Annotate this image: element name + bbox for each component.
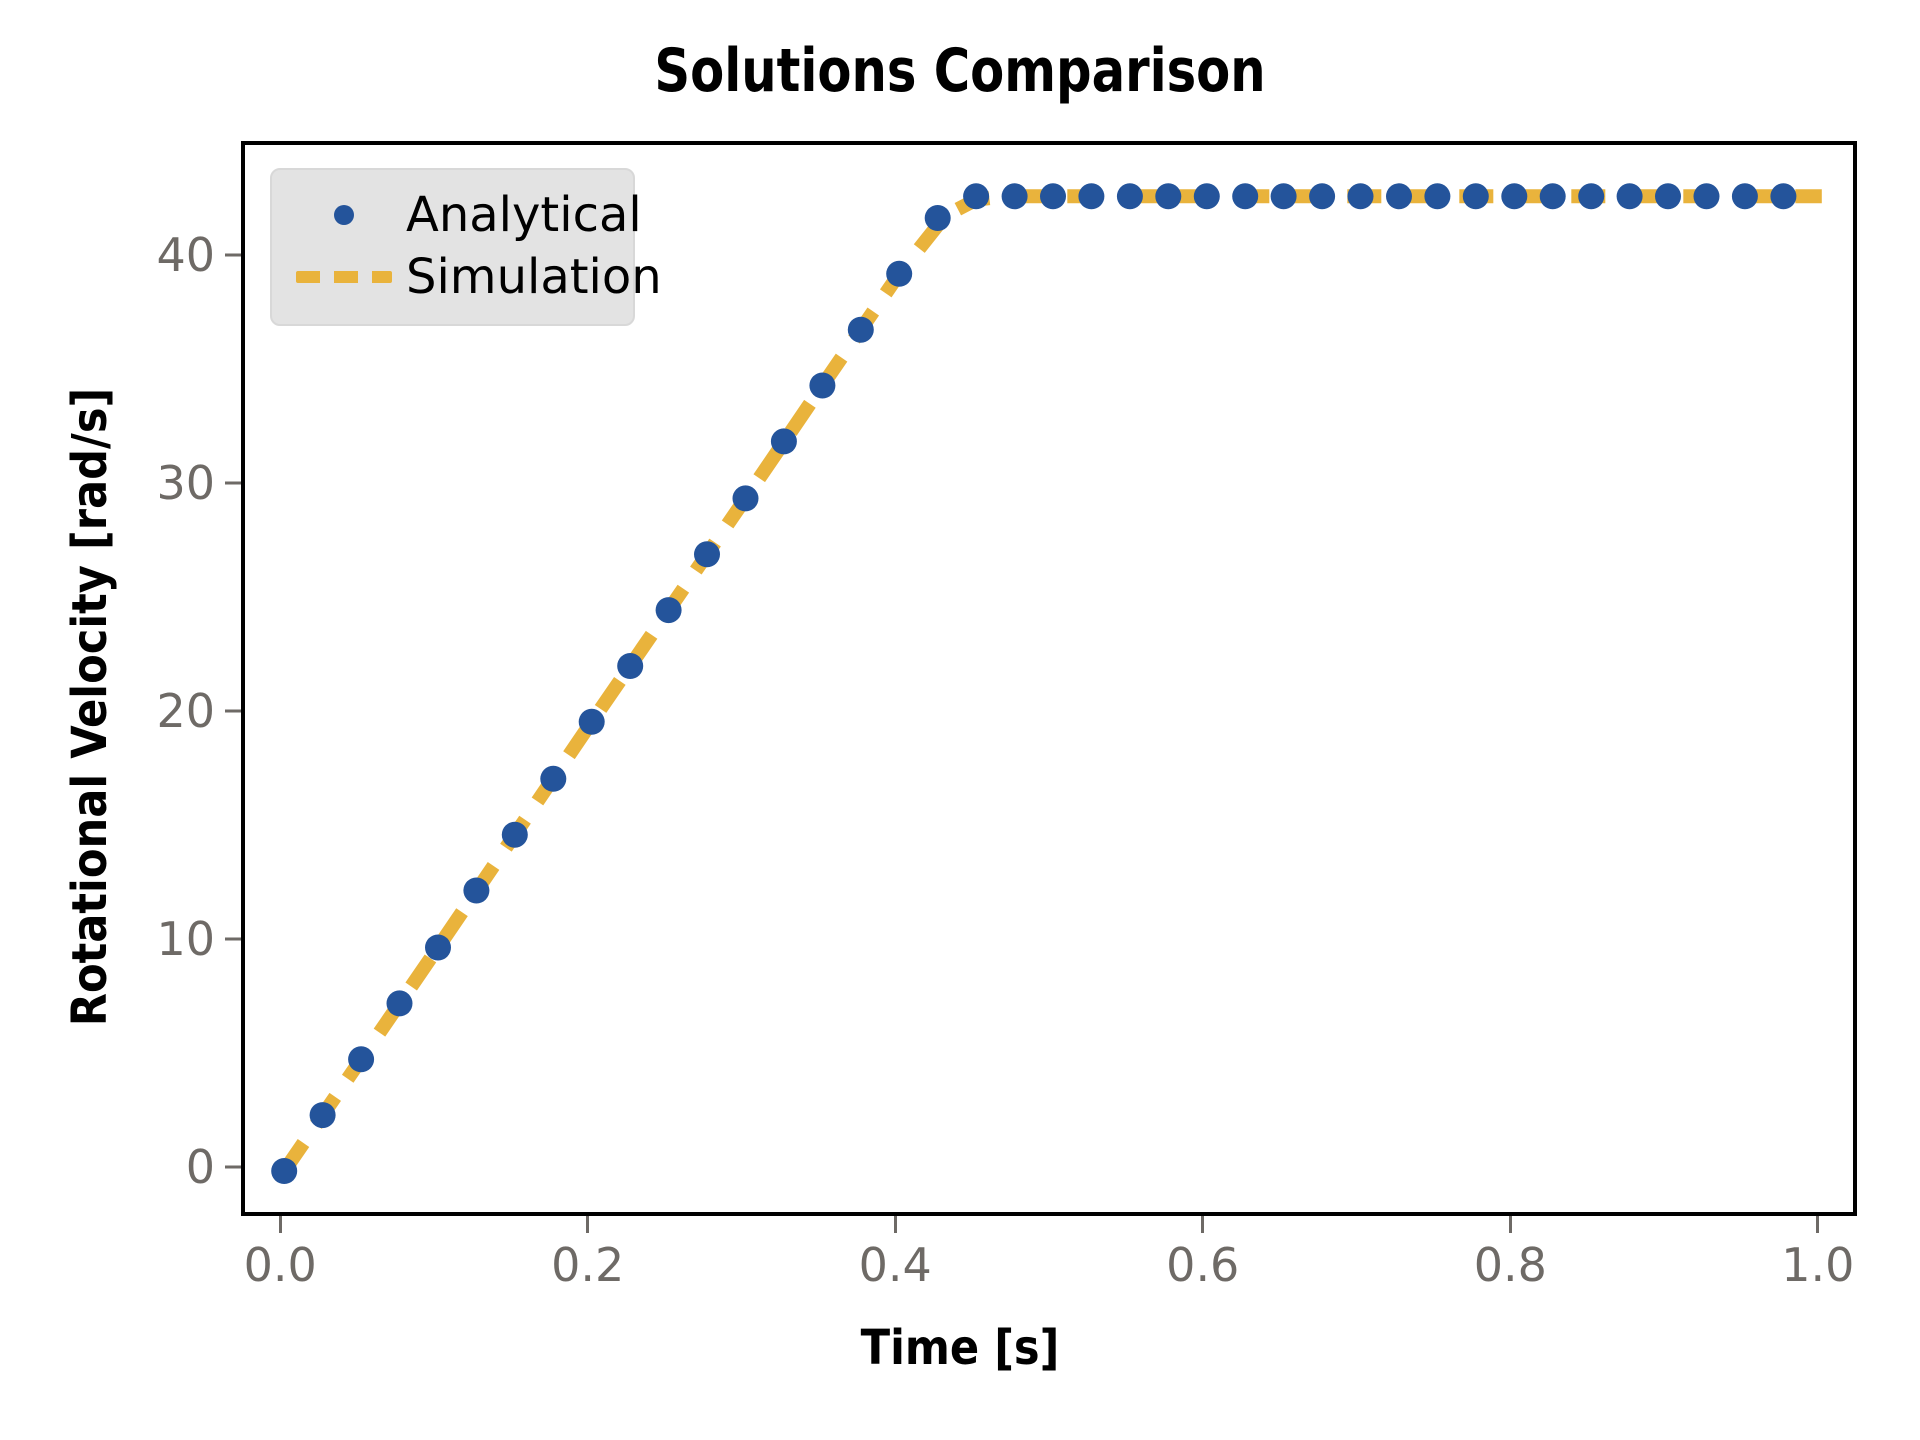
legend[interactable]: Analytical Simulation [270, 168, 635, 326]
data-point [1501, 183, 1527, 209]
legend-item-analytical[interactable]: Analytical [288, 184, 617, 246]
y-tick-label: 30 [95, 456, 215, 510]
page-title: Solutions Comparison [77, 36, 1843, 106]
data-point [1770, 183, 1796, 209]
data-point [925, 205, 951, 231]
data-point [502, 822, 528, 848]
x-tick-label: 0.6 [1103, 1238, 1303, 1292]
x-tick-mark [1509, 1216, 1512, 1233]
data-point [848, 317, 874, 343]
data-point [1424, 183, 1450, 209]
data-point [463, 878, 489, 904]
data-point [1386, 183, 1412, 209]
data-point [540, 766, 566, 792]
data-point [733, 485, 759, 511]
data-point [271, 1158, 297, 1184]
data-point [617, 653, 643, 679]
data-point [886, 261, 912, 287]
data-point [348, 1046, 374, 1072]
data-point [656, 597, 682, 623]
x-tick-mark [1201, 1216, 1204, 1233]
legend-item-simulation[interactable]: Simulation [288, 246, 617, 308]
data-point [1732, 183, 1758, 209]
data-point [425, 935, 451, 961]
y-tick-label: 0 [95, 1140, 215, 1194]
data-point [1117, 183, 1143, 209]
x-axis-label: Time [s] [0, 1320, 1920, 1376]
data-point [1194, 183, 1220, 209]
x-tick-mark [1816, 1216, 1819, 1233]
simulation-series-line [284, 196, 1822, 1171]
data-point [1348, 183, 1374, 209]
legend-label-analytical: Analytical [400, 187, 642, 243]
data-point [771, 428, 797, 454]
x-tick-label: 0.2 [488, 1238, 688, 1292]
y-tick-mark [225, 937, 241, 940]
y-tick-mark [225, 253, 241, 256]
data-point [963, 183, 989, 209]
x-tick-label: 0.0 [180, 1238, 380, 1292]
x-tick-label: 0.8 [1410, 1238, 1610, 1292]
legend-label-simulation: Simulation [400, 249, 662, 305]
simulation-dash-icon [288, 271, 400, 283]
y-tick-label: 40 [95, 228, 215, 282]
data-point [1232, 183, 1258, 209]
data-point [1155, 183, 1181, 209]
y-tick-label: 10 [95, 912, 215, 966]
x-tick-label: 1.0 [1718, 1238, 1918, 1292]
x-tick-mark [894, 1216, 897, 1233]
data-point [1655, 183, 1681, 209]
figure-canvas: Solutions Comparison Rotational Velocity… [0, 0, 1920, 1440]
data-point [1617, 183, 1643, 209]
data-point [1002, 183, 1028, 209]
data-point [694, 541, 720, 567]
analytical-marker-icon [288, 205, 400, 225]
data-point [387, 990, 413, 1016]
analytical-series-markers [271, 183, 1796, 1184]
y-tick-mark [225, 481, 241, 484]
x-tick-label: 0.4 [795, 1238, 995, 1292]
data-point [1578, 183, 1604, 209]
data-point [1309, 183, 1335, 209]
x-tick-mark [279, 1216, 282, 1233]
data-point [579, 709, 605, 735]
data-point [809, 373, 835, 399]
data-point [1040, 183, 1066, 209]
data-point [1694, 183, 1720, 209]
data-point [1540, 183, 1566, 209]
data-point [1078, 183, 1104, 209]
data-point [1463, 183, 1489, 209]
data-point [310, 1102, 336, 1128]
y-tick-mark [225, 1165, 241, 1168]
y-tick-mark [225, 709, 241, 712]
data-point [1271, 183, 1297, 209]
x-tick-mark [586, 1216, 589, 1233]
y-tick-label: 20 [95, 684, 215, 738]
